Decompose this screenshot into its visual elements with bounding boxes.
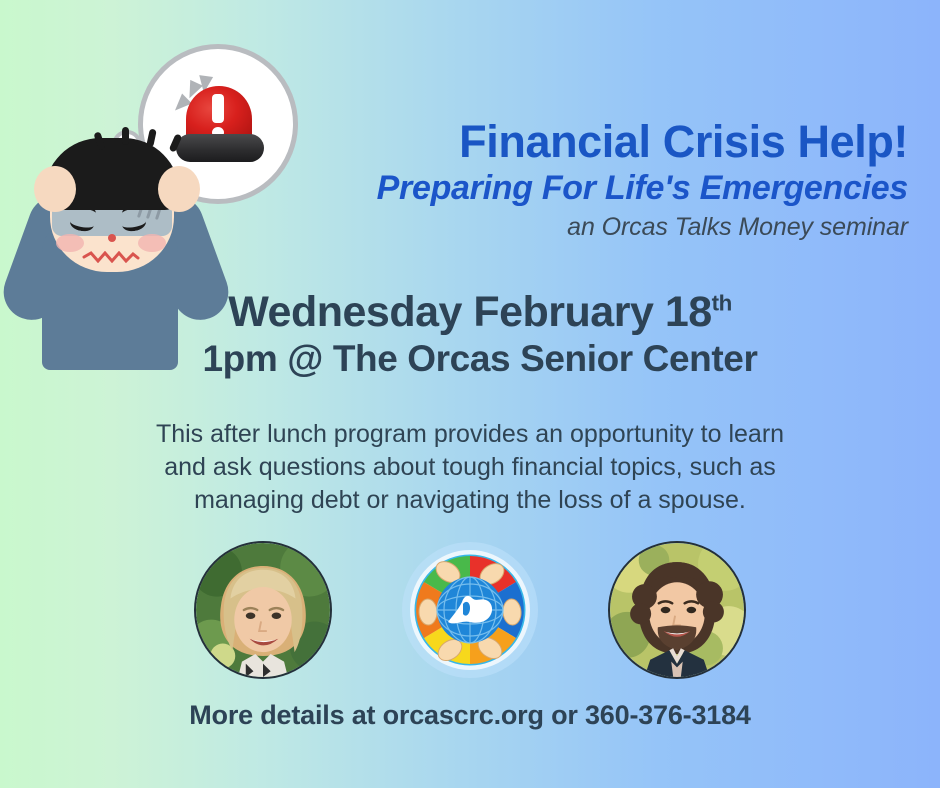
page-subtitle: Preparing For Life's Emergencies — [300, 169, 908, 207]
hair-spike — [93, 131, 105, 150]
title-block: Financial Crisis Help! Preparing For Lif… — [300, 118, 908, 242]
event-flyer: Financial Crisis Help! Preparing For Lif… — [0, 0, 940, 788]
event-description: This after lunch program provides an opp… — [78, 418, 862, 517]
seminar-series-label: an Orcas Talks Money seminar — [300, 213, 908, 242]
organization-logo — [400, 540, 540, 680]
presenter-photo-row — [0, 540, 940, 680]
event-date-ordinal: th — [712, 291, 732, 316]
hair-spike — [122, 127, 129, 145]
event-date: Wednesday February 18th — [130, 288, 830, 336]
contact-line: More details at orcascrc.org or 360-376-… — [0, 700, 940, 731]
event-when-block: Wednesday February 18th 1pm @ The Orcas … — [130, 288, 830, 380]
person-cheek-right — [138, 234, 166, 252]
person-nose — [108, 234, 116, 242]
person-hand-right — [158, 166, 200, 212]
person-cheek-left — [56, 234, 84, 252]
description-line: and ask questions about tough financial … — [78, 451, 862, 484]
presenter-photo-right — [608, 541, 746, 679]
hair-spike — [169, 133, 183, 152]
person-hand-left — [34, 166, 76, 212]
hair-spike — [146, 128, 157, 147]
person-mouth — [82, 250, 140, 262]
description-line: managing debt or navigating the loss of … — [78, 484, 862, 517]
siren-exclamation-bar — [212, 94, 224, 123]
description-line: This after lunch program provides an opp… — [78, 418, 862, 451]
presenter-photo-left — [194, 541, 332, 679]
event-time-and-venue: 1pm @ The Orcas Senior Center — [130, 338, 830, 380]
page-title: Financial Crisis Help! — [300, 118, 908, 167]
event-date-text: Wednesday February 18 — [228, 288, 711, 336]
